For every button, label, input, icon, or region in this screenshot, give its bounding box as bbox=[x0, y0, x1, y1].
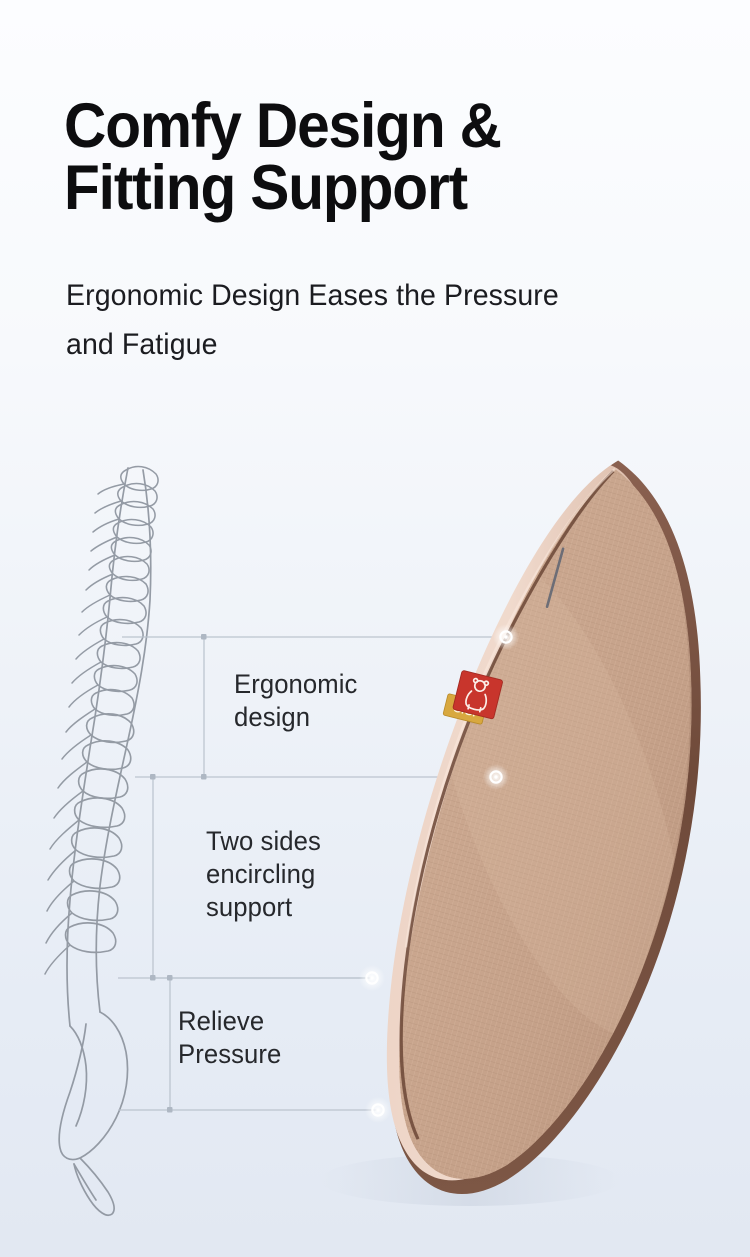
lumbar-cushion: GiGi bbox=[323, 445, 750, 1201]
node-marker-ergonomic bbox=[493, 624, 519, 650]
callout-label-two-sides-encircling-support: Two sides encircling support bbox=[206, 825, 321, 924]
node-marker-relieve-bottom bbox=[365, 1097, 391, 1123]
node-marker-relieve-top bbox=[359, 965, 385, 991]
callout-label-relieve-pressure: Relieve Pressure bbox=[178, 1005, 281, 1071]
spine-illustration bbox=[45, 467, 158, 1216]
callout-label-ergonomic-design: Ergonomic design bbox=[234, 668, 357, 734]
node-marker-two-sides bbox=[483, 764, 509, 790]
product-diagram: GiGi bbox=[0, 0, 750, 1257]
